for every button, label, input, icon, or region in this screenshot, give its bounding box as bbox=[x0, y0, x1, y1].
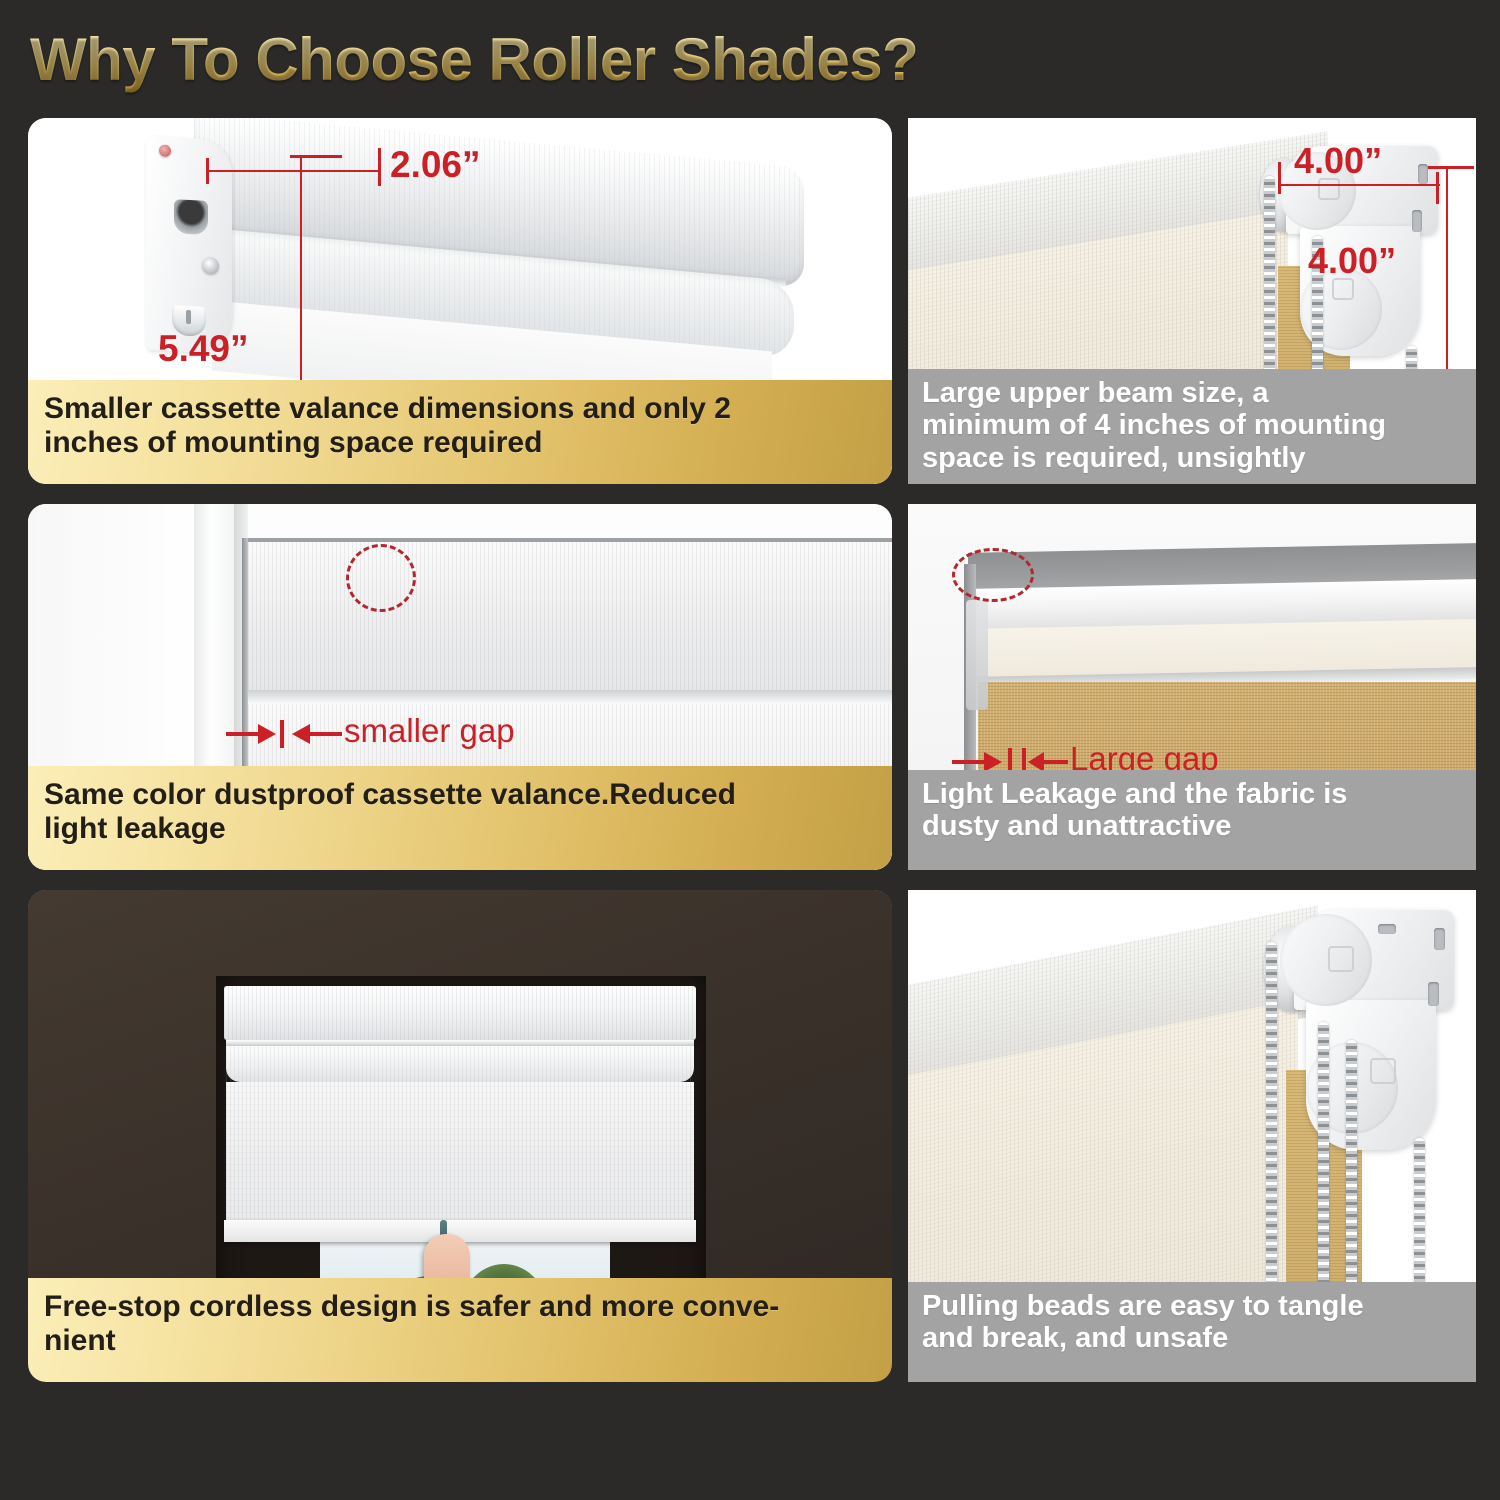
bracket-slot-3 bbox=[1378, 924, 1396, 934]
caption-line-2: light leakage bbox=[44, 812, 876, 846]
cassette-valance bbox=[224, 986, 696, 1040]
beam-width-dimension-line bbox=[1280, 184, 1440, 186]
panel-bottom-left: Free-stop cordless design is safer and m… bbox=[28, 890, 892, 1382]
bracket-slot-2 bbox=[1412, 210, 1422, 232]
roller-tube bbox=[226, 1046, 694, 1082]
beam-width-label: 4.00” bbox=[1294, 140, 1382, 182]
caption-line-1: Smaller cassette valance dimensions and … bbox=[44, 392, 876, 426]
caption-bottom-right: Pulling beads are easy to tangle and bre… bbox=[908, 1282, 1476, 1382]
valance-end-cap bbox=[146, 136, 232, 355]
caption-line-2: nient bbox=[44, 1324, 876, 1358]
panel-top-left: 2.06” 5.49” Smaller cassette valance dim… bbox=[28, 118, 892, 484]
caption-middle-right: Light Leakage and the fabric is dusty an… bbox=[908, 770, 1476, 870]
panel-bottom-right: Pulling beads are easy to tangle and bre… bbox=[908, 890, 1476, 1382]
height-dimension-label: 5.49” bbox=[158, 328, 249, 370]
caption-bottom-left: Free-stop cordless design is safer and m… bbox=[28, 1278, 892, 1382]
caption-top-right: Large upper beam size, a minimum of 4 in… bbox=[908, 369, 1476, 484]
caption-line-2: and break, and unsafe bbox=[922, 1322, 1464, 1354]
gap-callout-label: smaller gap bbox=[344, 712, 515, 750]
caption-line-2: dusty and unattractive bbox=[922, 810, 1464, 842]
width-dimension-tick-right bbox=[378, 148, 381, 186]
panel-middle-right: Large gap Light Leakage and the fabric i… bbox=[908, 504, 1476, 870]
caption-line-2: inches of mounting space required bbox=[44, 426, 876, 460]
beam-width-tick-left bbox=[1278, 162, 1281, 194]
caption-line-1: Pulling beads are easy to tangle bbox=[922, 1290, 1464, 1322]
bracket-slot-1 bbox=[1434, 928, 1445, 950]
caption-line-1: Same color dustproof cassette valance.Re… bbox=[44, 778, 876, 812]
caption-line-1: Light Leakage and the fabric is bbox=[922, 778, 1464, 810]
caption-line-1: Large upper beam size, a bbox=[922, 377, 1464, 409]
cassette-valance-face bbox=[248, 542, 892, 690]
highlight-circle-icon bbox=[952, 548, 1034, 602]
bracket-slot-1 bbox=[1418, 164, 1428, 184]
height-dimension-tick-top bbox=[290, 155, 342, 158]
width-dimension-tick-left bbox=[206, 158, 209, 184]
end-cap-slot bbox=[174, 199, 208, 235]
width-dimension-label: 2.06” bbox=[390, 144, 481, 186]
end-cap-screw-top bbox=[159, 144, 171, 157]
beam-width-tick-right bbox=[1436, 172, 1439, 204]
panel-middle-left: smaller gap Same color dustproof cassett… bbox=[28, 504, 892, 870]
comparison-grid: 2.06” 5.49” Smaller cassette valance dim… bbox=[0, 0, 1500, 1500]
caption-middle-left: Same color dustproof cassette valance.Re… bbox=[28, 766, 892, 870]
valance-bottom-rail bbox=[246, 690, 892, 704]
beam-height-dimension-line bbox=[1446, 168, 1448, 372]
panel-top-right: 4.00” 4.00” Large upper beam size, a min… bbox=[908, 118, 1476, 484]
gap-arrow-left-icon bbox=[224, 718, 344, 750]
bracket-mount bbox=[966, 600, 988, 710]
bracket-icon-top bbox=[1328, 946, 1354, 972]
caption-line-2: minimum of 4 inches of mounting bbox=[922, 409, 1464, 441]
bracket-slot-2 bbox=[1428, 982, 1439, 1006]
shade-fabric bbox=[226, 1082, 694, 1237]
end-cap-screw-mid bbox=[202, 257, 219, 275]
bracket-lobe-top bbox=[1280, 914, 1372, 1006]
beam-height-tick-top bbox=[1428, 166, 1474, 169]
bracket-icon-bottom bbox=[1370, 1058, 1396, 1084]
width-dimension-line bbox=[208, 170, 380, 172]
beam-height-label: 4.00” bbox=[1308, 240, 1396, 282]
caption-top-left: Smaller cassette valance dimensions and … bbox=[28, 380, 892, 484]
caption-line-3: space is required, unsightly bbox=[922, 442, 1464, 474]
caption-line-1: Free-stop cordless design is safer and m… bbox=[44, 1290, 876, 1324]
highlight-circle-icon bbox=[346, 544, 416, 612]
